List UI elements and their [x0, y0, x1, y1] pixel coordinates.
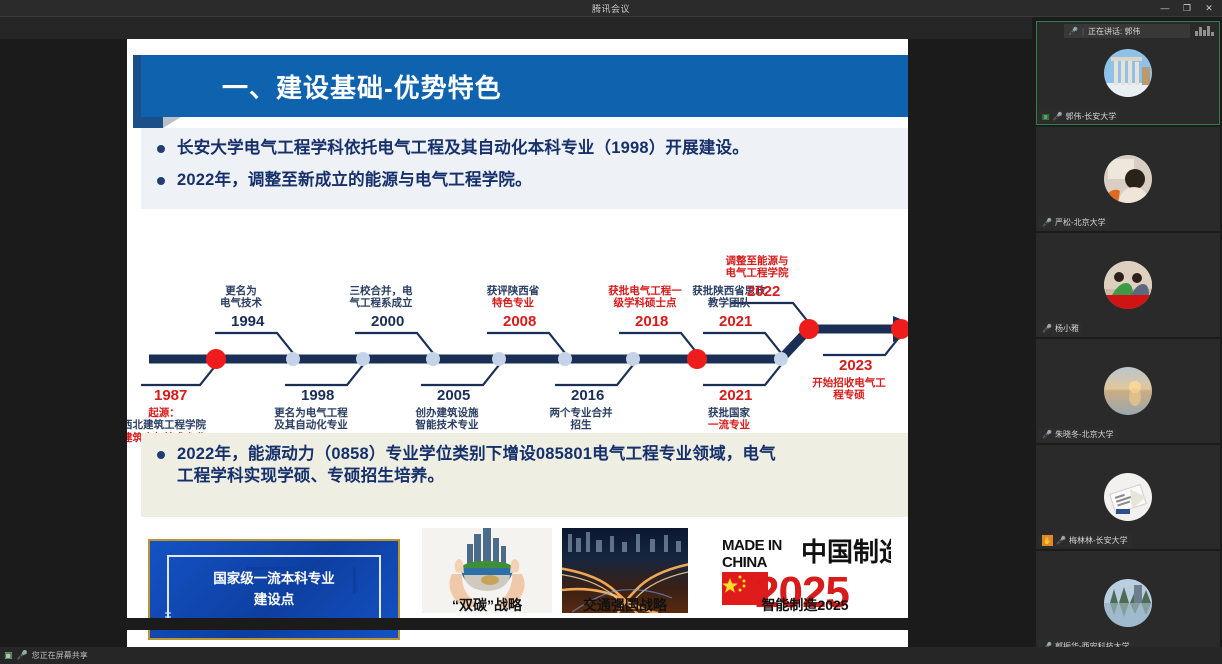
- timeline-label-line: 调整至能源与: [705, 255, 809, 267]
- timeline-event-label: 更名为电气工程及其自动化专业: [259, 407, 363, 432]
- timeline-year: 2000: [371, 313, 404, 330]
- screen-share-taskbar: ▣ 🎤 您正在屏幕共享: [0, 647, 1222, 664]
- shared-screen-stage[interactable]: 一、建设基础-优势特色 长安大学电气工程学科依托电气工程及其自动化本科专业（19…: [0, 17, 1032, 647]
- avatar: [1104, 49, 1152, 97]
- participant-rail[interactable]: 🎤|正在讲话: 郭伟▣🎤郭伟-长安大学🎤严松-北京大学🎤杨小雅🎤朱晓冬-北京大学…: [1032, 17, 1222, 647]
- bullet-item: 长安大学电气工程学科依托电气工程及其自动化本科专业（1998）开展建设。: [157, 137, 908, 159]
- timeline-event-label: 两个专业合并招生: [529, 407, 633, 432]
- timeline-label-line: 招生: [529, 419, 633, 431]
- timeline-node: [492, 352, 506, 366]
- timeline-label-line: 三校合并，电: [329, 285, 433, 297]
- window-titlebar: 腾讯会议 — ❐ ✕: [0, 0, 1222, 17]
- slide-title-banner: 一、建设基础-优势特色: [127, 55, 908, 117]
- timeline-year: 1994: [231, 313, 264, 330]
- bullet-text: 2022年，能源动力（0858）专业学位类别下增设085801电气工程专业领域，…: [177, 445, 776, 463]
- timeline-leader: [823, 335, 901, 355]
- timeline-event-label: 获批国家一流专业: [677, 407, 781, 432]
- mic-muted-icon: 🎤: [1056, 536, 1066, 545]
- bullet-block-top: 长安大学电气工程学科依托电气工程及其自动化本科专业（1998）开展建设。 202…: [141, 128, 908, 209]
- bullet-dot-icon: [157, 145, 165, 153]
- timeline-label-line: 创办建筑设施: [395, 407, 499, 419]
- participant-name-bar: ▣🎤郭伟-长安大学: [1038, 110, 1120, 123]
- timeline-leader: [555, 365, 633, 385]
- avatar: [1104, 261, 1152, 309]
- timeline-event-label: 调整至能源与电气工程学院: [705, 255, 809, 280]
- timeline-label-line: 开始招收电气工: [797, 377, 901, 389]
- dual-carbon-photo: “双碳”战略: [422, 528, 552, 613]
- timeline-label-line: 获批国家: [677, 407, 781, 419]
- timeline-label-line: 气工程系成立: [329, 297, 433, 309]
- badge-notch-right: [353, 567, 356, 593]
- timeline-label-line: 电气工程学院: [705, 267, 809, 279]
- bullet-block-bottom: 2022年，能源动力（0858）专业学位类别下增设085801电气工程专业领域，…: [141, 433, 908, 517]
- timeline-node: [774, 352, 788, 366]
- timeline-label-line: 及其自动化专业: [259, 419, 363, 431]
- speaker-divider: |: [1082, 27, 1084, 36]
- speaker-mic-icon: 🎤: [1068, 27, 1078, 36]
- timeline-diagram: 1987起源：西北建筑工程学院建筑电气技术专业1994更名为电气技术1998更名…: [141, 211, 908, 433]
- timeline-label-line: 特色专业: [461, 297, 565, 309]
- timeline-leader: [619, 333, 697, 353]
- timeline-event-label: 获评陕西省特色专业: [461, 285, 565, 310]
- badge-line-1: 国家级一流本科专业: [213, 569, 335, 589]
- taskbar-label: 您正在屏幕共享: [32, 650, 88, 661]
- stage-top-strip: [0, 17, 1032, 39]
- participant-name: 郭伟-长安大学: [1066, 111, 1117, 122]
- avatar: [1104, 367, 1152, 415]
- timeline-year: 2008: [503, 313, 536, 330]
- timeline-label-line: 西北建筑工程学院: [127, 419, 216, 431]
- timeline-year: 2005: [437, 387, 470, 404]
- timeline-node: [558, 352, 572, 366]
- timeline-year: 1987: [154, 387, 187, 404]
- active-speaker-bar: 🎤|正在讲话: 郭伟: [1064, 24, 1190, 38]
- timeline-leader: [703, 365, 781, 385]
- timeline-year: 2021: [719, 387, 752, 404]
- timeline-label-line: 获评陕西省: [461, 285, 565, 297]
- timeline-node: [799, 319, 819, 339]
- maximize-icon[interactable]: ❐: [1176, 0, 1198, 17]
- slide-title: 一、建设基础-优势特色: [222, 68, 502, 105]
- timeline-label-line: 电气技术: [189, 297, 293, 309]
- timeline-year: 2022: [747, 283, 780, 300]
- microphone-icon[interactable]: 🎤: [17, 650, 28, 661]
- photo-caption: “双碳”战略: [422, 595, 552, 613]
- timeline-leader: [421, 365, 499, 385]
- bullet-text: 2022年，调整至新成立的能源与电气工程学院。: [177, 169, 532, 191]
- timeline-label-line: 智能技术专业: [395, 419, 499, 431]
- participant-name: 梅林林-长安大学: [1069, 535, 1128, 546]
- timeline-node: [687, 349, 707, 369]
- participant-tile[interactable]: 🎤杨小雅: [1036, 233, 1220, 337]
- close-icon[interactable]: ✕: [1198, 0, 1220, 17]
- timeline-event-label: 更名为电气技术: [189, 285, 293, 310]
- participant-tile[interactable]: 🎤朱晓冬-北京大学: [1036, 339, 1220, 443]
- screen-share-icon: ▣: [4, 650, 13, 661]
- timeline-event-label: 开始招收电气工程专硕: [797, 377, 901, 402]
- participant-tile[interactable]: 🎤|正在讲话: 郭伟▣🎤郭伟-长安大学: [1036, 21, 1220, 125]
- made-in-china-logo: MADE IN CHINA 中国制造 2025 智能制造2: [719, 528, 891, 613]
- raise-hand-icon: ✋: [1042, 535, 1053, 546]
- mic-muted-icon: 🎤: [1053, 112, 1063, 121]
- stage-bottom-strip: [0, 618, 1032, 630]
- svg-text:中国制造: 中国制造: [801, 537, 891, 567]
- window-controls: — ❐ ✕: [1154, 0, 1220, 17]
- timeline-label-line: 更名为电气工程: [259, 407, 363, 419]
- audio-waveform-icon: [1195, 26, 1214, 36]
- participant-name: 朱晓冬-北京大学: [1055, 429, 1114, 440]
- presentation-slide: 一、建设基础-优势特色 长安大学电气工程学科依托电气工程及其自动化本科专业（19…: [127, 39, 908, 647]
- minimize-icon[interactable]: —: [1154, 0, 1176, 17]
- timeline-label-line: 一流专业: [677, 419, 781, 431]
- transport-power-photo: 交通强国战略: [562, 528, 688, 613]
- timeline-event-label: 创办建筑设施智能技术专业: [395, 407, 499, 432]
- avatar: [1104, 155, 1152, 203]
- timeline-year: 1998: [301, 387, 334, 404]
- bullet-dot-icon: [157, 451, 165, 459]
- bullet-text: 长安大学电气工程学科依托电气工程及其自动化本科专业（1998）开展建设。: [177, 137, 749, 159]
- participant-name: 杨小雅: [1055, 323, 1079, 334]
- bullet-text-cont: 工程学科实现学硕、专硕招生培养。: [177, 467, 444, 485]
- participant-name-bar: ✋🎤梅林林-长安大学: [1038, 534, 1132, 547]
- timeline-year: 2023: [839, 357, 872, 374]
- timeline-label-line: 起源：: [127, 407, 216, 419]
- badge-inner: 国家级一流本科专业 建设点: [167, 555, 381, 625]
- meeting-window: 腾讯会议 — ❐ ✕ 一、建设基础-优势特色 长安大学电气工程学科依托电气工: [0, 0, 1222, 664]
- participant-tile[interactable]: 🎤严松-北京大学: [1036, 127, 1220, 231]
- participant-tile[interactable]: 🎤郭振华-西安科技大学: [1036, 551, 1220, 655]
- timeline-node: [626, 352, 640, 366]
- mic-muted-icon: 🎤: [1042, 218, 1052, 227]
- bullet-item: 2022年，调整至新成立的能源与电气工程学院。: [157, 169, 908, 191]
- screen-share-icon: ▣: [1042, 112, 1050, 121]
- photo-caption: 交通强国战略: [562, 595, 688, 613]
- participant-name-bar: 🎤严松-北京大学: [1038, 216, 1110, 229]
- timeline-leader: [487, 333, 565, 353]
- mic-muted-icon: 🎤: [1042, 430, 1052, 439]
- participant-name: 严松-北京大学: [1055, 217, 1106, 228]
- bullet-item: 2022年，能源动力（0858）专业学位类别下增设085801电气工程专业领域，…: [157, 443, 908, 488]
- timeline-event-label: 三校合并，电气工程系成立: [329, 285, 433, 310]
- bullet-dot-icon: [157, 177, 165, 185]
- badge-line-2: 建设点: [254, 590, 295, 610]
- timeline-leader: [355, 333, 433, 353]
- timeline-leader: [285, 365, 363, 385]
- timeline-label-line: 两个专业合并: [529, 407, 633, 419]
- participant-tile[interactable]: ✋🎤梅林林-长安大学: [1036, 445, 1220, 549]
- mic-muted-icon: 🎤: [1042, 324, 1052, 333]
- active-speaker-name: 正在讲话: 郭伟: [1088, 26, 1140, 37]
- timeline-year: 2016: [571, 387, 604, 404]
- timeline-year: 2021: [719, 313, 752, 330]
- timeline-year: 2018: [635, 313, 668, 330]
- timeline-node: [286, 352, 300, 366]
- participant-name-bar: 🎤杨小雅: [1038, 322, 1083, 335]
- badge-notch-top: [246, 567, 306, 570]
- timeline-leader: [215, 333, 293, 353]
- window-title: 腾讯会议: [592, 2, 630, 15]
- timeline-leader: [141, 365, 216, 385]
- timeline-node: [426, 352, 440, 366]
- participant-name-bar: 🎤朱晓冬-北京大学: [1038, 428, 1118, 441]
- title-bar: 一、建设基础-优势特色: [141, 55, 908, 117]
- photo-caption: 智能制造2025: [719, 595, 891, 615]
- avatar: [1104, 473, 1152, 521]
- avatar: [1104, 579, 1152, 627]
- timeline-node: [356, 352, 370, 366]
- timeline-node: [206, 349, 226, 369]
- timeline-label-line: 更名为: [189, 285, 293, 297]
- timeline-label-line: 程专硕: [797, 389, 901, 401]
- title-shadow-triangle: [163, 117, 181, 128]
- timeline-leader: [703, 333, 781, 353]
- svg-text:MADE IN: MADE IN: [722, 537, 782, 554]
